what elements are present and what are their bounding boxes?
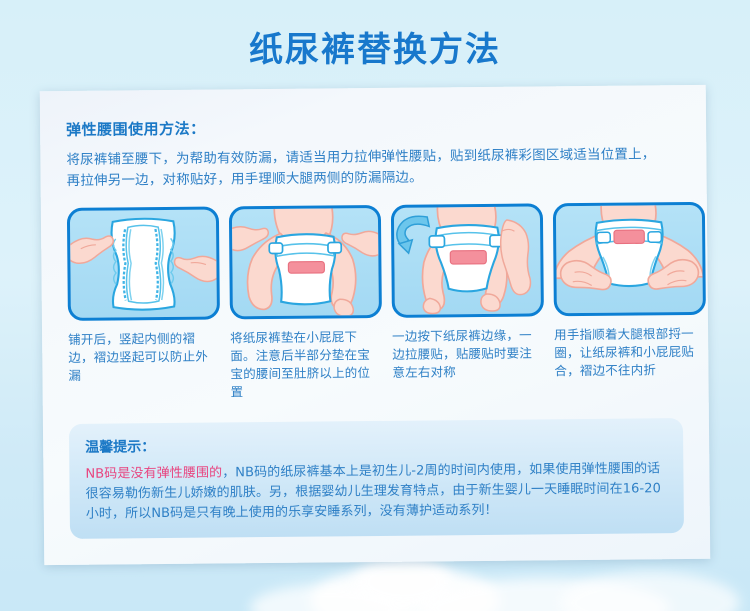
tips-body: NB码是没有弹性腰围的，NB码的纸尿裤基本上是初生儿-2周的时间内使用，如果使用… (85, 459, 668, 525)
step-item: 将纸尿裤垫在小屁屁下面。注意后半部分垫在宝宝的腰间至肚脐以上的位置 (229, 205, 383, 401)
section-body: 将尿裤铺至腰下，为帮助有效防漏，请适当用力拉伸弹性腰贴，贴到纸尿裤彩图区域适当位… (66, 144, 680, 192)
step-caption: 一边按下纸尿裤边缘，一边拉腰贴，贴腰贴时要注意左右对称 (392, 326, 545, 381)
page-title: 纸尿裤替换方法 (0, 22, 750, 71)
tips-highlight: NB码是没有弹性腰围的 (85, 465, 222, 481)
step-4-illustration (553, 202, 706, 316)
cloud-decoration (355, 556, 451, 608)
step-caption: 铺开后，竖起内侧的褶边，褶边竖起可以防止外漏 (68, 329, 221, 384)
step-item: 一边按下纸尿裤边缘，一边拉腰贴，贴腰贴时要注意左右对称 (391, 203, 545, 399)
diaper-unfolded-with-hands-icon (70, 210, 217, 318)
step-caption: 将纸尿裤垫在小屁屁下面。注意后半部分垫在宝宝的腰间至肚脐以上的位置 (230, 328, 383, 401)
instruction-card: 弹性腰围使用方法： 将尿裤铺至腰下，为帮助有效防漏，请适当用力拉伸弹性腰贴，贴到… (40, 85, 711, 565)
step-2-illustration (229, 205, 382, 319)
section-heading: 弹性腰围使用方法： (66, 113, 680, 140)
tips-heading: 温馨提示： (85, 431, 667, 457)
step-1-illustration (67, 206, 220, 320)
step-3-illustration (391, 203, 544, 317)
section-body-line-2: 再拉伸另一边，对称贴好，用手理顺大腿两侧的防漏隔边。 (67, 165, 681, 192)
step-item: 用手指顺着大腿根部捋一圈，让纸尿裤和小屁屁贴合，褶边不往内折 (553, 202, 707, 398)
steps-row: 铺开后，竖起内侧的褶边，褶边竖起可以防止外漏 (67, 202, 683, 403)
tips-box: 温馨提示： NB码是没有弹性腰围的，NB码的纸尿裤基本上是初生儿-2周的时间内使… (69, 418, 684, 539)
smoothing-leg-cuffs-icon (556, 205, 703, 313)
baby-legs-up-diaper-underneath-icon (232, 208, 379, 316)
step-caption: 用手指顺着大腿根部捋一圈，让纸尿裤和小屁屁贴合，褶边不往内折 (554, 325, 707, 380)
cloud-decoration (560, 572, 740, 611)
step-item: 铺开后，竖起内侧的褶边，褶边竖起可以防止外漏 (67, 206, 221, 402)
pulling-waist-tab-icon (394, 206, 541, 314)
product-info-page: 纸尿裤替换方法 弹性腰围使用方法： 将尿裤铺至腰下，为帮助有效防漏，请适当用力拉… (0, 0, 750, 611)
